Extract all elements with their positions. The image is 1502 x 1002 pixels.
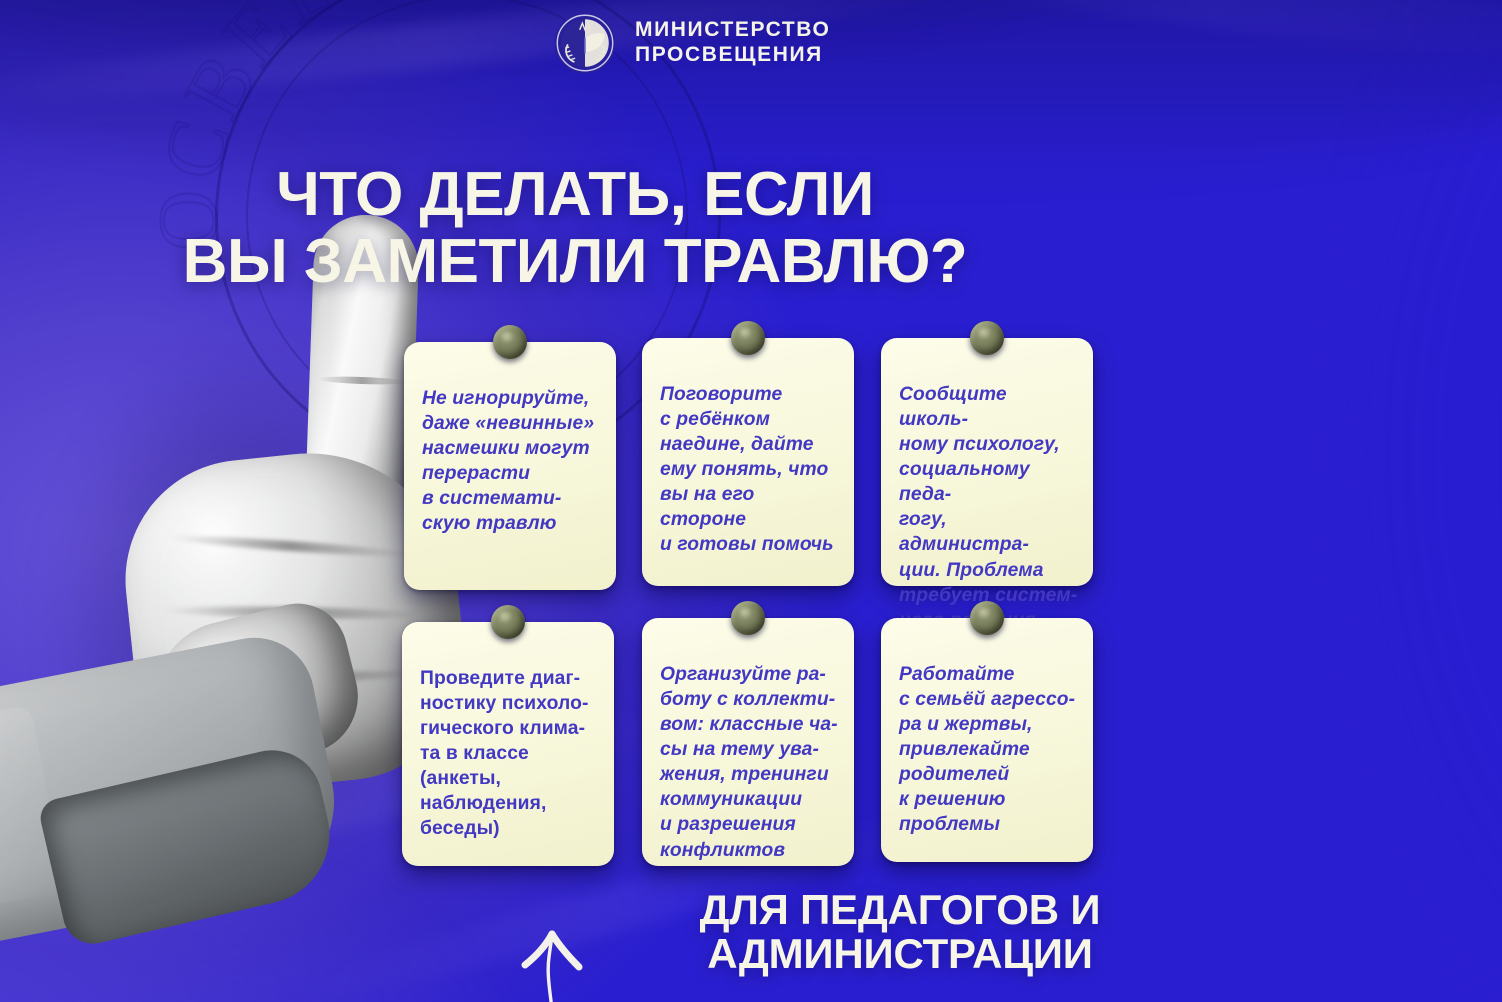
footer-line-2: АДМИНИСТРАЦИИ — [620, 932, 1180, 976]
thumbtack-icon — [493, 325, 527, 359]
advice-card-6-text: Работайте с семьёй агрессо- ра и жертвы,… — [881, 618, 1093, 858]
advice-card-6[interactable]: Работайте с семьёй агрессо- ра и жертвы,… — [881, 618, 1093, 862]
ministry-name-line1: МИНИСТЕРСТВО — [635, 18, 830, 43]
ministry-name: МИНИСТЕРСТВО ПРОСВЕЩЕНИЯ — [635, 18, 830, 68]
ministry-brand: МИНИСТЕРСТВО ПРОСВЕЩЕНИЯ — [552, 10, 830, 76]
thumbtack-icon — [491, 605, 525, 639]
advice-card-2-text: Поговорите с ребёнком наедине, дайте ему… — [642, 338, 854, 578]
ministry-emblem-icon — [552, 10, 618, 76]
thumbtack-icon — [731, 601, 765, 635]
advice-card-5-text: Организуйте ра- боту с коллекти- вом: кл… — [642, 618, 854, 883]
advice-card-4[interactable]: Проведите диаг- ностику психоло- гическо… — [402, 622, 614, 866]
thumbtack-icon — [970, 601, 1004, 635]
infographic-poster: ОСВЕЩЕНИЯ — [0, 0, 1502, 1002]
advice-card-2[interactable]: Поговорите с ребёнком наедине, дайте ему… — [642, 338, 854, 586]
title-line-1: ЧТО ДЕЛАТЬ, ЕСЛИ — [276, 160, 874, 229]
advice-card-3[interactable]: Сообщите школь- ному психологу, социальн… — [881, 338, 1093, 586]
knuckle-crease — [168, 532, 412, 559]
thumbtack-icon — [970, 321, 1004, 355]
advice-card-4-text: Проведите диаг- ностику психоло- гическо… — [402, 622, 614, 862]
ministry-name-line2: ПРОСВЕЩЕНИЯ — [635, 43, 830, 68]
footer-line-1: ДЛЯ ПЕДАГОГОВ И — [700, 886, 1101, 933]
advice-card-1[interactable]: Не игнорируйте, даже «невинные» насмешки… — [404, 342, 616, 590]
page-title: ЧТО ДЕЛАТЬ, ЕСЛИ ВЫ ЗАМЕТИЛИ ТРАВЛЮ? — [0, 164, 1150, 293]
thumbtack-icon — [731, 321, 765, 355]
title-line-2: ВЫ ЗАМЕТИЛИ ТРАВЛЮ? — [0, 231, 1150, 292]
advice-card-1-text: Не игнорируйте, даже «невинные» насмешки… — [404, 342, 616, 556]
footer-audience: ДЛЯ ПЕДАГОГОВ И АДМИНИСТРАЦИИ — [620, 888, 1180, 975]
advice-card-grid: Не игнорируйте, даже «невинные» насмешки… — [404, 334, 1116, 866]
advice-card-5[interactable]: Организуйте ра- боту с коллекти- вом: кл… — [642, 618, 854, 866]
